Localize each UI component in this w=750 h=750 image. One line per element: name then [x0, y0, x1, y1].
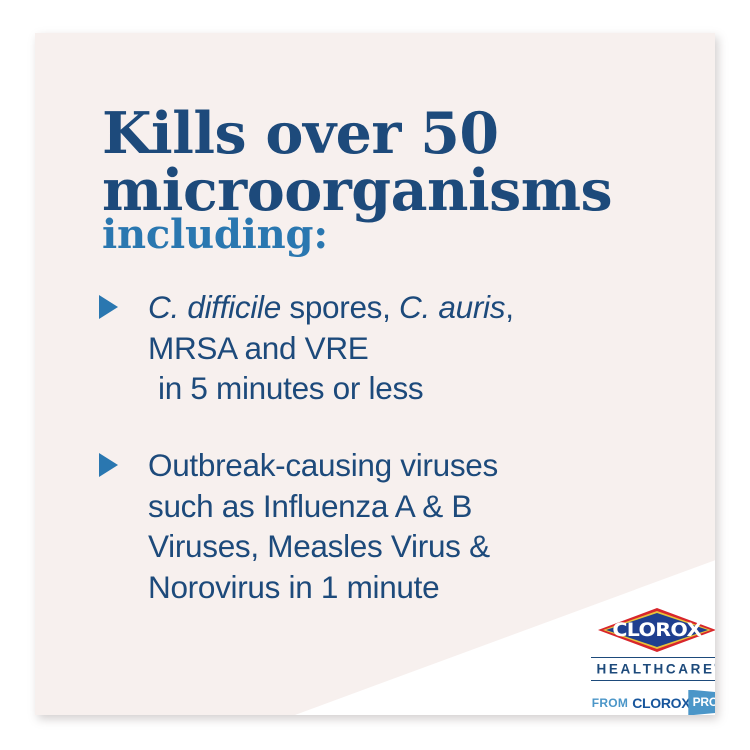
subheading-including: including:	[102, 215, 328, 255]
division-label: HEALTHCARE	[597, 662, 715, 677]
clorox-healthcare-logo: CLOROX HEALTHCARE® FROM CLOROX PRO ®	[591, 608, 715, 715]
claim-line: such as Influenza A & B	[148, 486, 695, 527]
cloroxpro-brand: CLOROX	[632, 695, 690, 711]
product-claim-card: Kills over 50 microorganisms including: …	[35, 33, 715, 715]
screenshot-root: Kills over 50 microorganisms including: …	[0, 0, 750, 750]
claim-line: Viruses, Measles Virus &	[148, 526, 695, 567]
claim-line: in 5 minutes or less	[148, 368, 695, 409]
species-name: C. auris	[399, 289, 505, 325]
claim-line: MRSA and VRE	[148, 328, 695, 369]
from-cloroxpro-lockup: FROM CLOROX PRO ®	[591, 690, 715, 716]
claims-list: C. difficile spores, C. auris, MRSA and …	[95, 287, 695, 607]
claim-text: ,	[505, 289, 513, 325]
list-item: Outbreak-causing viruses such as Influen…	[95, 445, 695, 608]
division-name: HEALTHCARE®	[591, 658, 715, 680]
species-name: C. difficile	[148, 289, 281, 325]
from-label: FROM	[592, 696, 629, 710]
clorox-diamond-icon: CLOROX	[598, 608, 715, 652]
triangle-right-icon	[99, 295, 118, 319]
claim-line: Outbreak-causing viruses	[148, 445, 695, 486]
registered-mark: ®	[711, 715, 715, 716]
claim-text: spores,	[281, 289, 399, 325]
brand-wordmark: CLOROX	[593, 608, 715, 652]
claim-line: Norovirus in 1 minute	[148, 567, 695, 608]
pro-label: PRO	[693, 695, 715, 709]
claim-line: C. difficile spores, C. auris,	[148, 287, 695, 328]
list-item: C. difficile spores, C. auris, MRSA and …	[95, 287, 695, 409]
triangle-right-icon	[99, 453, 118, 477]
pennant-shape: PRO	[688, 690, 715, 716]
page-title: Kills over 50 microorganisms	[102, 106, 692, 219]
divider-bottom	[591, 680, 715, 681]
